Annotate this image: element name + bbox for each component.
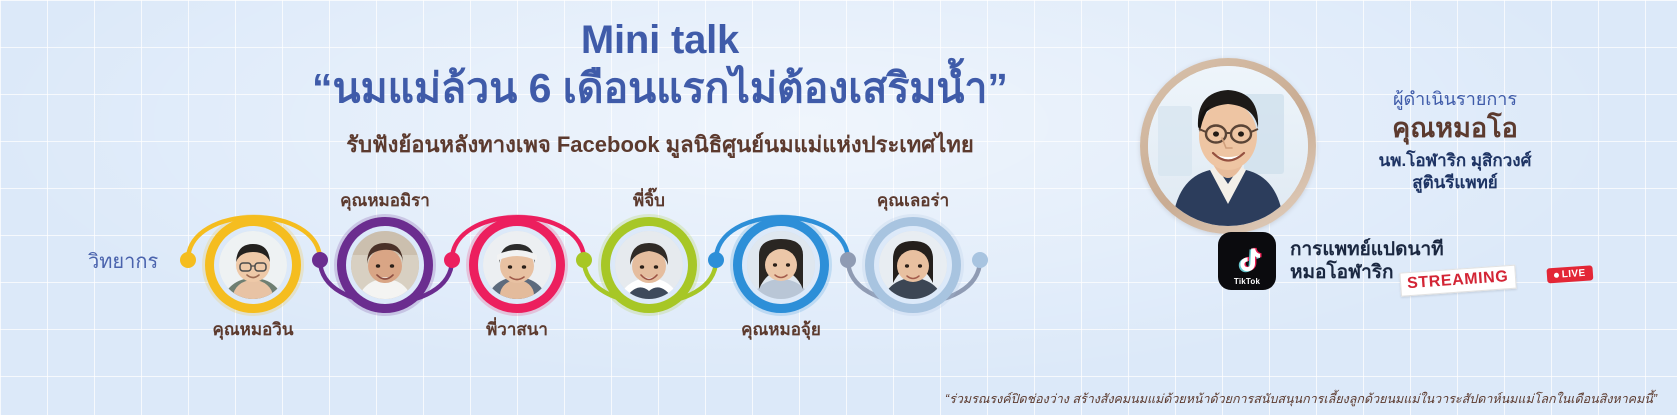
speaker-ring-2 xyxy=(337,217,433,313)
avatar-speaker-1-image xyxy=(219,231,287,299)
header-block: Mini talk “นมแม่ล้วน 6 เดือนแรกไม่ต้องเส… xyxy=(250,18,1070,162)
avatar-speaker-4 xyxy=(615,231,683,299)
speaker-card-1[interactable]: คุณหมอวิน xyxy=(205,217,301,313)
speaker-ring-3 xyxy=(469,217,565,313)
host-portrait xyxy=(1148,66,1308,226)
avatar-speaker-3 xyxy=(483,231,551,299)
avatar-speaker-5 xyxy=(747,231,815,299)
speaker-name-4: พี่จิ๊บ xyxy=(554,187,744,214)
footer-caption: “ร่วมรณรงค์ปิดช่องว่าง สร้างสังคมนมแม่ด้… xyxy=(945,389,1657,409)
page-subtitle-quote: “นมแม่ล้วน 6 เดือนแรกไม่ต้องเสริมน้ำ” xyxy=(250,64,1070,113)
avatar-speaker-3-image xyxy=(483,231,551,299)
speaker-ring-4 xyxy=(601,217,697,313)
speaker-ring-5 xyxy=(733,217,829,313)
speaker-card-5[interactable]: คุณหมอจุ้ย xyxy=(733,217,829,313)
speaker-ring-gap-4 xyxy=(610,226,688,304)
avatar-speaker-4-image xyxy=(615,231,683,299)
avatar-speaker-6 xyxy=(879,231,947,299)
speaker-name-3: พี่วาสนา xyxy=(422,316,612,343)
host-fullname: นพ.โอฬาริก มุสิกวงศ์ xyxy=(1290,150,1620,172)
speaker-name-6: คุณเลอร่า xyxy=(818,187,1008,214)
tiktok-icon[interactable]: TikTok xyxy=(1218,232,1276,290)
speaker-ring-gap-3 xyxy=(478,226,556,304)
speaker-card-2[interactable]: คุณหมอมิรา xyxy=(337,217,433,313)
avatar-speaker-1 xyxy=(219,231,287,299)
live-label: LIVE xyxy=(1561,268,1586,281)
avatar-speaker-6-image xyxy=(879,231,947,299)
host-specialty: สูตินรีแพทย์ xyxy=(1290,172,1620,194)
tiktok-note-glyph xyxy=(1230,244,1264,278)
speaker-ring-6 xyxy=(865,217,961,313)
live-dot-icon xyxy=(1554,273,1559,278)
speakers-section-label: วิทยากร xyxy=(88,245,158,277)
avatar-speaker-2-image xyxy=(351,231,419,299)
page-description: รับฟังย้อนหลังทางเพจ Facebook มูลนิธิศูน… xyxy=(250,127,1070,162)
tiktok-wordmark: TikTok xyxy=(1218,277,1276,286)
speaker-card-3[interactable]: พี่วาสนา xyxy=(469,217,565,313)
host-nickname: คุณหมอโอ xyxy=(1290,112,1620,146)
speaker-card-6[interactable]: คุณเลอร่า xyxy=(865,217,961,313)
speaker-ring-gap-6 xyxy=(874,226,952,304)
speaker-ring-1 xyxy=(205,217,301,313)
speaker-ring-gap-5 xyxy=(742,226,820,304)
avatar-speaker-5-image xyxy=(747,231,815,299)
speaker-name-1: คุณหมอวิน xyxy=(158,316,348,343)
host-role-label: ผู้ดำเนินรายการ xyxy=(1290,88,1620,111)
host-portrait-image xyxy=(1148,66,1308,226)
speaker-name-2: คุณหมอมิรา xyxy=(290,187,480,214)
speaker-ring-gap-2 xyxy=(346,226,424,304)
promo-banner: Mini talk “นมแม่ล้วน 6 เดือนแรกไม่ต้องเส… xyxy=(0,0,1677,415)
host-info-block: ผู้ดำเนินรายการ คุณหมอโอ นพ.โอฬาริก มุสิ… xyxy=(1290,88,1620,194)
page-title: Mini talk xyxy=(250,18,1070,63)
channel-name-line-1: การแพทย์แปดนาที xyxy=(1290,238,1444,261)
live-badge: LIVE xyxy=(1546,265,1593,283)
speaker-ring-gap-1 xyxy=(214,226,292,304)
avatar-speaker-2 xyxy=(351,231,419,299)
speaker-name-5: คุณหมอจุ้ย xyxy=(686,316,876,343)
speaker-card-4[interactable]: พี่จิ๊บ xyxy=(601,217,697,313)
